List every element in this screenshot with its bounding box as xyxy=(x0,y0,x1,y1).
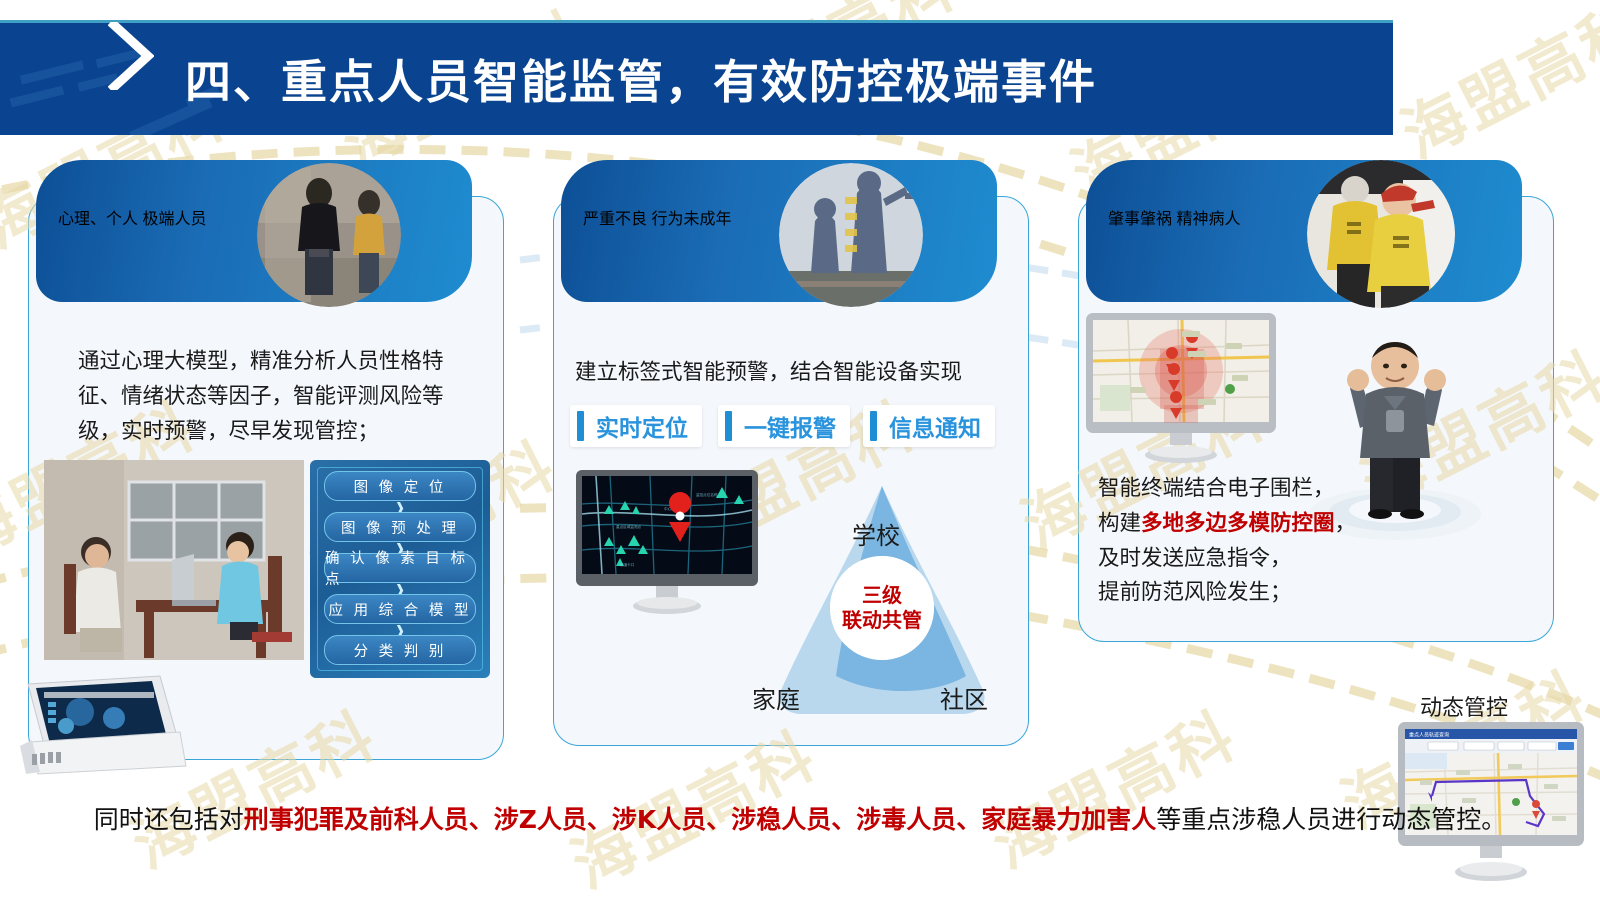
svg-text:监控点位名称: 监控点位名称 xyxy=(696,492,718,497)
header-top-accent-line xyxy=(0,20,1393,23)
patient-body-line4: 提前防范风险发生； xyxy=(1098,580,1292,605)
chip-label: 一键报警 xyxy=(744,409,836,443)
triangle-label-bottom-right: 社区 xyxy=(940,680,988,715)
dynamic-control-label: 动态管控 xyxy=(1420,690,1508,722)
flow-step: 确 认 像 素 目 标 点 xyxy=(324,553,476,583)
footer-note: 同时还包括对刑事犯罪及前科人员、涉Z人员、涉K人员、涉稳人员、涉毒人员、家庭暴力… xyxy=(0,800,1600,836)
card-patient-header xyxy=(1086,160,1522,302)
chip-accent-bar xyxy=(870,411,877,441)
chip-realtime-location[interactable]: 实时定位 xyxy=(570,405,702,447)
card-psych-header xyxy=(36,160,472,302)
chip-one-key-alarm[interactable]: 一键报警 xyxy=(718,405,850,447)
chip-info-notify[interactable]: 信息通知 xyxy=(863,405,995,447)
patient-body-highlight: 多地多边多模防控圈 xyxy=(1141,511,1335,536)
svg-text:街道卡口: 街道卡口 xyxy=(620,562,635,567)
svg-text:重点区域监测点: 重点区域监测点 xyxy=(616,524,642,529)
watermark-text: 海盟高科 xyxy=(1384,0,1600,175)
triangle-center-line2: 联动共管 xyxy=(842,608,922,633)
chip-label: 实时定位 xyxy=(596,409,688,443)
flow-step: 分 类 判 别 xyxy=(324,635,476,665)
three-level-triangle-diagram: 学校 家庭 社区 三级 联动共管 xyxy=(740,480,1025,725)
card-patient-body: 智能终端结合电子围栏， 构建多地多边多模防控圈， 及时发送应急指令， 提前防范风… xyxy=(1098,472,1518,611)
patient-body-line2-suffix: ， xyxy=(1335,511,1357,536)
chip-accent-bar xyxy=(577,411,584,441)
card-psych-body: 通过心理大模型，精准分析人员性格特征、情绪状态等因子，智能评测风险等级，实时预警… xyxy=(78,345,454,449)
svg-text:重点人员轨迹查询: 重点人员轨迹查询 xyxy=(1409,732,1449,739)
chip-label: 信息通知 xyxy=(889,409,981,443)
minor-map-monitor: 重点区域监测点监控点位名称 街道卡口中心路段 xyxy=(576,470,758,616)
footer-suffix: 等重点涉稳人员进行动态管控。 xyxy=(1156,805,1506,834)
patient-body-line1: 智能终端结合电子围栏， xyxy=(1098,476,1335,501)
triangle-center-label: 三级 联动共管 xyxy=(830,556,934,660)
triangle-label-top: 学校 xyxy=(852,516,900,551)
footer-highlight: 刑事犯罪及前科人员、涉Z人员、涉K人员、涉稳人员、涉毒人员、家庭暴力加害人 xyxy=(244,805,1157,834)
patient-body-line2-prefix: 构建 xyxy=(1098,511,1141,536)
flow-step: 图 像 定 位 xyxy=(324,471,476,501)
flow-step: 应 用 综 合 模 型 xyxy=(324,594,476,624)
psych-flow-diagram: 图 像 定 位 ❱ 图 像 预 处 理 ❱ 确 认 像 素 目 标 点 ❱ 应 … xyxy=(310,460,490,678)
flow-step: 图 像 预 处 理 xyxy=(324,512,476,542)
card-minor-photo xyxy=(779,163,923,307)
chip-accent-bar xyxy=(725,411,732,441)
page-title: 四、重点人员智能监管，有效防控极端事件 xyxy=(185,46,1097,112)
patient-body-line3: 及时发送应急指令， xyxy=(1098,546,1292,571)
card-minor-body: 建立标签式智能预警，结合智能设备实现 xyxy=(575,356,995,391)
triangle-label-bottom-left: 家庭 xyxy=(752,680,800,715)
chevron-right-icon xyxy=(108,22,154,90)
card-patient-photo xyxy=(1307,160,1455,308)
triangle-center-line1: 三级 xyxy=(862,583,902,608)
patient-geofence-monitor xyxy=(1086,313,1276,465)
footer-prefix: 同时还包括对 xyxy=(94,805,244,834)
card-psych-photo xyxy=(257,163,401,307)
card-psych-photo-counseling xyxy=(44,460,304,660)
